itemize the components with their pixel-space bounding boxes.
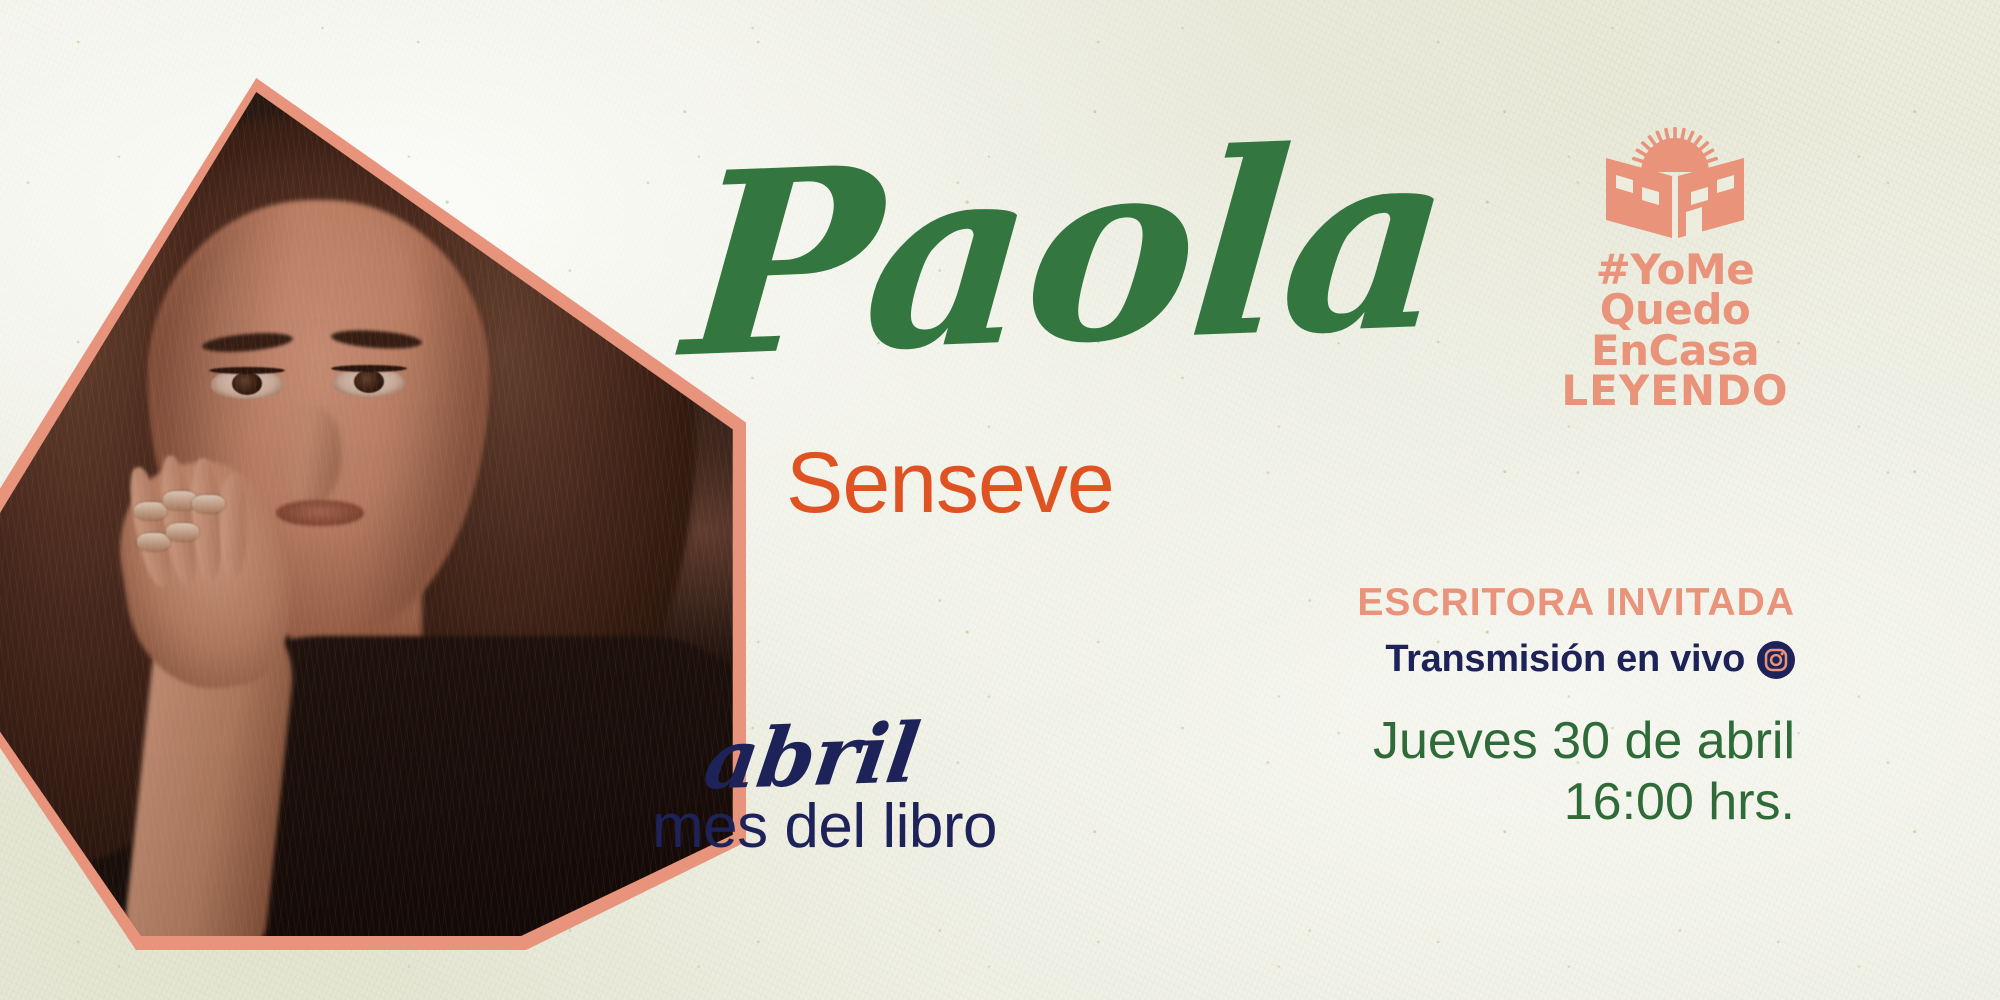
logo-line-2: Quedo	[1561, 290, 1788, 330]
event-time: 16:00 hrs.	[1155, 772, 1795, 833]
live-broadcast-label: Transmisión en vivo	[1385, 639, 1745, 681]
campaign-month-script: abril	[700, 712, 924, 801]
portrait-hexagon-frame	[0, 78, 746, 950]
live-broadcast-row: Transmisión en vivo	[1155, 639, 1795, 681]
instagram-icon[interactable]	[1757, 641, 1795, 679]
campaign-month-subtitle: mes del libro	[652, 796, 997, 858]
event-info-block: ESCRITORA INVITADA Transmisión en vivo J…	[1155, 582, 1795, 833]
portrait-hexagon-clip	[0, 78, 746, 950]
logo-line-1: #YoMe	[1561, 250, 1788, 290]
logo-line-4: LEYENDO	[1561, 371, 1788, 411]
campaign-logo: #YoMe Quedo EnCasa LEYENDO	[1555, 120, 1795, 411]
open-book-house-sunrise-icon	[1602, 120, 1748, 240]
campaign-logo-wordmark: #YoMe Quedo EnCasa LEYENDO	[1561, 250, 1788, 411]
event-date: Jueves 30 de abril	[1155, 711, 1795, 772]
speaker-last-name: Senseve	[786, 440, 1114, 526]
portrait-duotone-grade	[0, 78, 746, 950]
poster-canvas: Paola Senseve abril mes del libro	[0, 0, 2000, 1000]
portrait-photo	[0, 78, 746, 950]
logo-line-3: EnCasa	[1561, 331, 1788, 371]
guest-writer-label: ESCRITORA INVITADA	[1155, 582, 1795, 625]
right-column: #YoMe Quedo EnCasa LEYENDO ESCRITORA INV…	[1155, 0, 1795, 1000]
